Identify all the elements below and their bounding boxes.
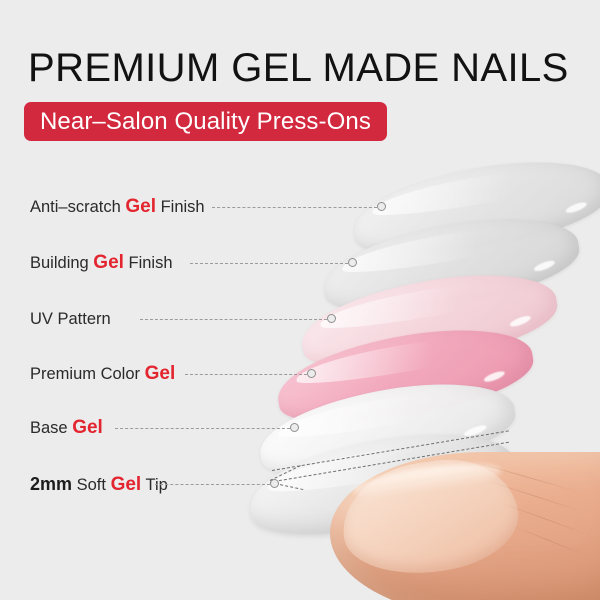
leader-endpoint-premium-color-gel [307,369,316,378]
infographic-canvas: PREMIUM GEL MADE NAILS Near–Salon Qualit… [0,0,600,600]
leader-line-base-gel [115,428,290,429]
callout-premium-color-gel: Premium Color Gel [0,361,600,387]
callout-label-uv-pattern: UV Pattern [30,306,111,332]
callout-label-anti-scratch-gel-finish: Anti–scratch Gel Finish [30,194,205,220]
leader-line-anti-scratch-gel-finish [212,207,377,208]
leader-endpoint-building-gel-finish [348,258,357,267]
leader-endpoint-soft-gel-tip [270,479,279,488]
subtitle-badge-label: Near–Salon Quality Press-Ons [40,110,371,134]
callout-label-building-gel-finish: Building Gel Finish [30,250,173,276]
callout-uv-pattern: UV Pattern [0,306,600,332]
callout-emphasis: 2mm [30,474,72,494]
callout-label-base-gel: Base Gel [30,415,103,441]
page-title: PREMIUM GEL MADE NAILS [28,48,569,88]
callout-base-gel: Base Gel [0,415,600,441]
callout-label-soft-gel-tip: 2mm Soft Gel Tip [30,471,168,498]
callout-building-gel-finish: Building Gel Finish [0,250,600,276]
leader-endpoint-base-gel [290,423,299,432]
callout-gel-word: Gel [145,363,176,384]
leader-line-building-gel-finish [190,263,348,264]
callout-label-premium-color-gel: Premium Color Gel [30,361,175,387]
leader-endpoint-anti-scratch-gel-finish [377,202,386,211]
callout-gel-word: Gel [125,196,156,217]
callout-gel-word: Gel [93,252,124,273]
leader-line-premium-color-gel [185,374,307,375]
callout-gel-word: Gel [72,417,103,438]
callout-soft-gel-tip: 2mm Soft Gel Tip [0,471,600,497]
leader-line-soft-gel-tip [155,484,270,485]
leader-endpoint-uv-pattern [327,314,336,323]
callout-gel-word: Gel [111,474,142,495]
subtitle-badge: Near–Salon Quality Press-Ons [24,102,387,141]
callout-anti-scratch-gel-finish: Anti–scratch Gel Finish [0,194,600,220]
leader-line-uv-pattern [140,319,327,320]
